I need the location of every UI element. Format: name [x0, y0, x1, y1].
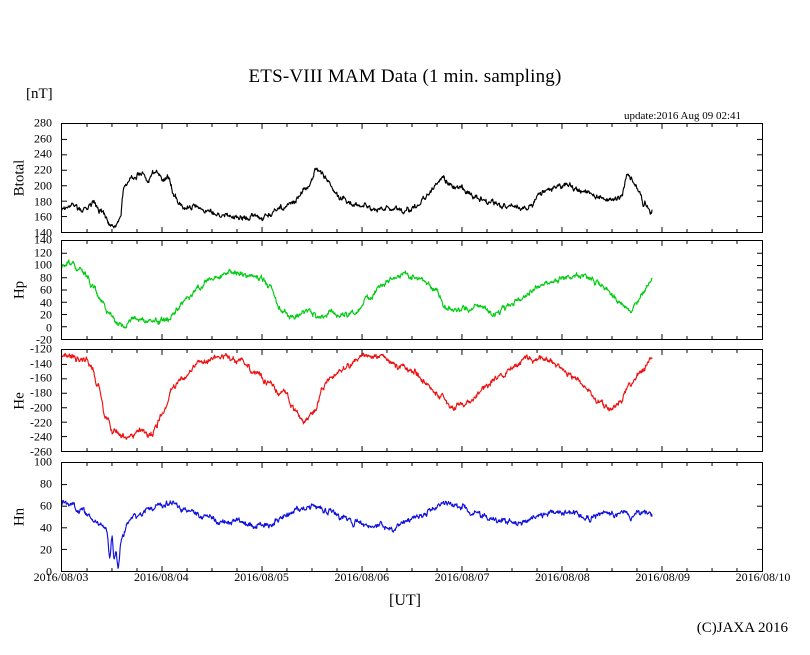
- x-tick-label: 2016/08/09: [635, 570, 690, 585]
- y-axis-title-he: He: [12, 392, 29, 410]
- y-tick-label: 260: [0, 131, 52, 146]
- copyright-notice: (C)JAXA 2016: [0, 620, 810, 637]
- x-axis-label: [UT]: [0, 592, 810, 610]
- plot-panel-he: [61, 349, 763, 452]
- plot-panel-btotal: [61, 123, 763, 233]
- y-tick-label: 100: [0, 455, 52, 470]
- x-tick-label: 2016/08/08: [535, 570, 590, 585]
- y-tick-label: -160: [0, 371, 52, 386]
- x-tick-label: 2016/08/04: [134, 570, 189, 585]
- x-tick-label: 2016/08/06: [335, 570, 390, 585]
- y-tick-label: -140: [0, 356, 52, 371]
- y-tick-label: 160: [0, 210, 52, 225]
- plot-panel-hp: [61, 240, 763, 340]
- update-timestamp: update:2016 Aug 09 02:41: [624, 110, 741, 122]
- x-tick-label: 2016/08/03: [34, 570, 89, 585]
- x-tick-label: 2016/08/05: [234, 570, 289, 585]
- y-tick-label: 280: [0, 116, 52, 131]
- y-axis-title-btotal: Btotal: [12, 160, 29, 197]
- y-tick-label: 20: [0, 543, 52, 558]
- y-tick-label: -220: [0, 415, 52, 430]
- y-axis-title-hp: Hp: [12, 281, 29, 299]
- plot-panel-hn: [61, 462, 763, 572]
- chart-figure: ETS-VIII MAM Data (1 min. sampling) [nT]…: [0, 0, 810, 655]
- chart-title: ETS-VIII MAM Data (1 min. sampling): [0, 66, 810, 88]
- x-tick-label: 2016/08/07: [435, 570, 490, 585]
- x-tick-label: 2016/08/10: [736, 570, 791, 585]
- y-tick-label: 80: [0, 477, 52, 492]
- y-tick-label: 140: [0, 233, 52, 248]
- y-tick-label: -240: [0, 430, 52, 445]
- y-axis-title-hn: Hn: [12, 508, 29, 526]
- y-tick-label: -120: [0, 342, 52, 357]
- y-axis-unit-label: [nT]: [26, 86, 53, 103]
